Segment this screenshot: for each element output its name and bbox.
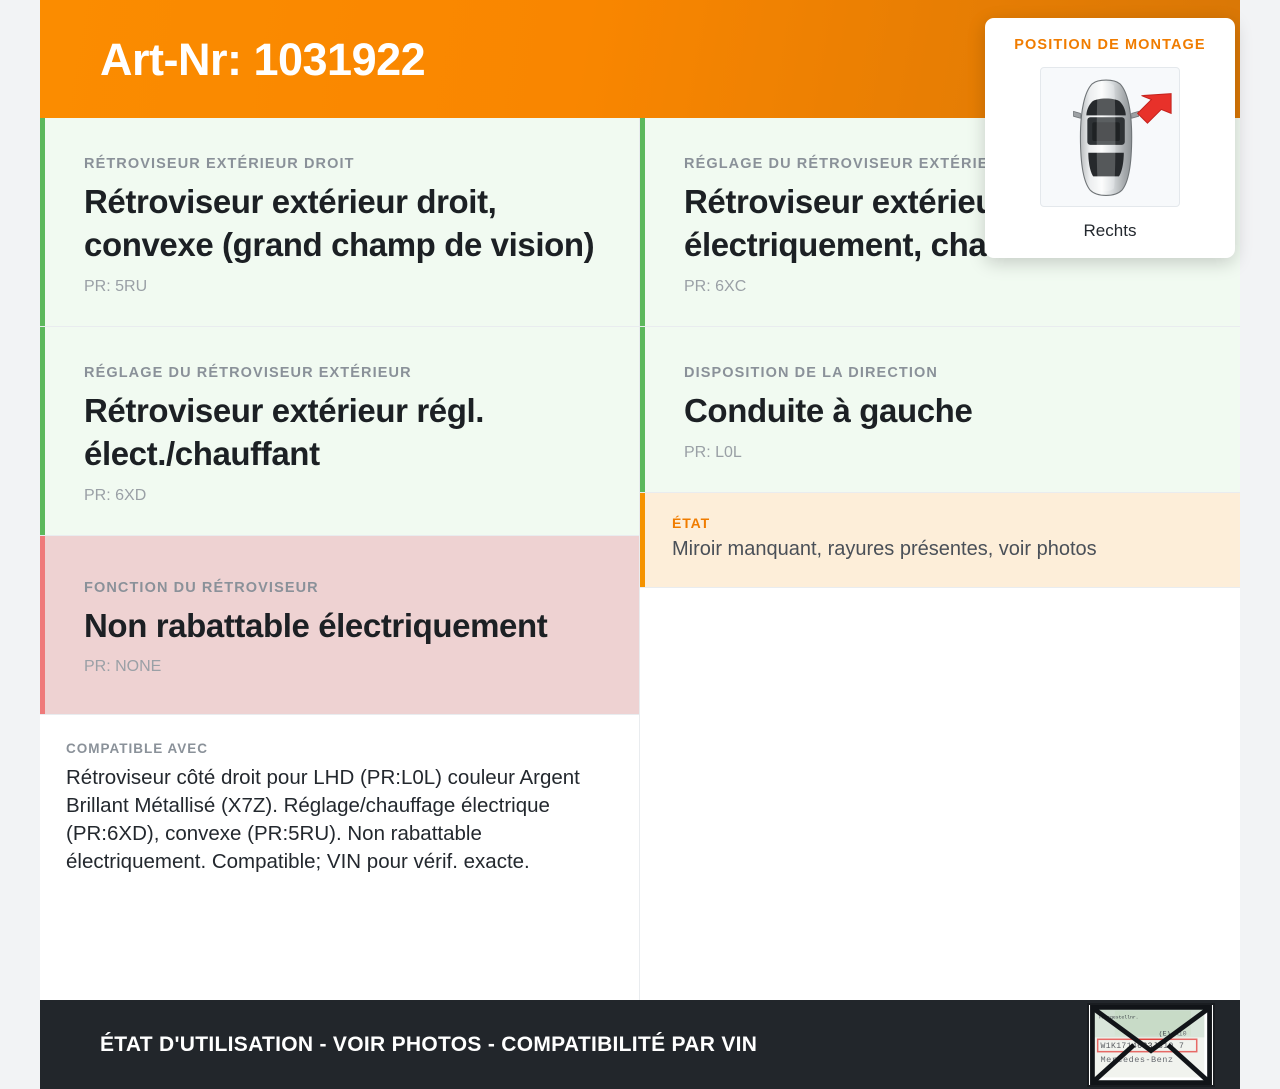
spec-card-label: FONCTION DU RÉTROVISEUR <box>84 580 595 596</box>
mounting-position-caption: Rechts <box>1005 221 1215 241</box>
page-title: Art-Nr: 1031922 <box>100 37 425 82</box>
car-diagram-svg <box>1041 68 1179 206</box>
mounting-position-badge[interactable]: POSITION DE MONTAGE <box>985 18 1235 258</box>
mounting-position-title: POSITION DE MONTAGE <box>1005 37 1215 53</box>
spec-card-title: Conduite à gauche <box>684 390 1196 433</box>
condition-label: ÉTAT <box>672 515 1196 531</box>
condition-text: Miroir manquant, rayures présentes, voir… <box>672 536 1196 563</box>
spec-card-mirror-right[interactable]: RÉTROVISEUR EXTÉRIEUR DROIT Rétroviseur … <box>40 118 639 327</box>
spec-column-left: RÉTROVISEUR EXTÉRIEUR DROIT Rétroviseur … <box>40 118 640 1000</box>
envelope-icon: Fahrgestellnr. (E) A10 W1K1714633J319 7 … <box>1089 1005 1213 1085</box>
compatible-with-section: COMPATIBLE AVEC Rétroviseur côté droit p… <box>40 715 639 898</box>
spec-card-label: DISPOSITION DE LA DIRECTION <box>684 365 1196 381</box>
spec-card-title: Rétroviseur extérieur droit, convexe (gr… <box>84 181 595 267</box>
product-spec-sheet: Art-Nr: 1031922 RÉTROVISEUR EXTÉRIEUR DR… <box>0 0 1280 1089</box>
spec-card-condition[interactable]: ÉTAT Miroir manquant, rayures présentes,… <box>640 493 1240 588</box>
spec-card-pr-code: PR: 6XC <box>684 278 1196 296</box>
spec-card-mirror-function[interactable]: FONCTION DU RÉTROVISEUR Non rabattable é… <box>40 536 639 716</box>
right-side-arrow-icon <box>1138 94 1172 124</box>
right-column-spacer <box>640 588 1240 1000</box>
spec-card-label: RÉTROVISEUR EXTÉRIEUR DROIT <box>84 156 595 172</box>
compatible-with-label: COMPATIBLE AVEC <box>66 741 595 756</box>
compatible-with-text: Rétroviseur côté droit pour LHD (PR:L0L)… <box>66 764 595 876</box>
spec-card-title: Non rabattable électriquement <box>84 605 595 648</box>
car-top-view-with-right-arrow-icon <box>1040 67 1180 207</box>
spec-card-title: Rétroviseur extérieur régl. élect./chauf… <box>84 390 595 476</box>
spec-card-pr-code: PR: 5RU <box>84 278 595 296</box>
envelope-over-vehicle-registration-icon: Fahrgestellnr. (E) A10 W1K1714633J319 7 … <box>1087 1003 1215 1087</box>
spec-card-pr-code: PR: L0L <box>684 444 1196 462</box>
footer-text: ÉTAT D'UTILISATION - VOIR PHOTOS - COMPA… <box>100 1033 757 1057</box>
spec-card-label: RÉGLAGE DU RÉTROVISEUR EXTÉRIEUR <box>84 365 595 381</box>
spec-card-pr-code: PR: 6XD <box>84 487 595 505</box>
spec-card-mirror-adjust[interactable]: RÉGLAGE DU RÉTROVISEUR EXTÉRIEUR Rétrovi… <box>40 327 639 536</box>
spec-card-pr-code: PR: NONE <box>84 658 595 676</box>
footer-bar: ÉTAT D'UTILISATION - VOIR PHOTOS - COMPA… <box>40 1000 1240 1089</box>
spec-card-steering-layout[interactable]: DISPOSITION DE LA DIRECTION Conduite à g… <box>640 327 1240 493</box>
left-column-spacer <box>40 898 639 1000</box>
